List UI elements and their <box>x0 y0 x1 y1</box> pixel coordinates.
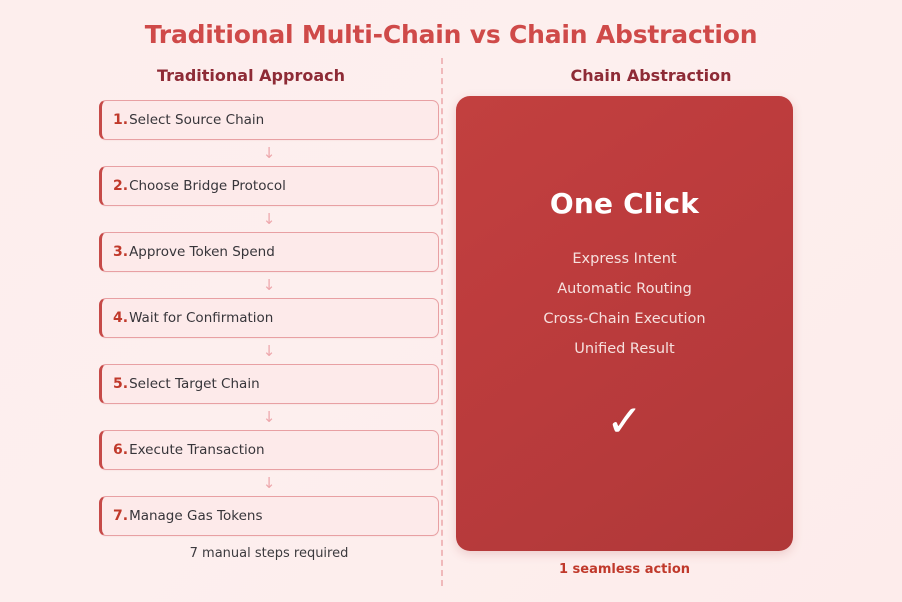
step-label: Select Source Chain <box>129 112 264 128</box>
card-title: One Click <box>550 187 699 220</box>
step-number: 7. <box>113 508 128 524</box>
down-arrow-icon: ↓ <box>99 338 439 364</box>
card-feature-list: Express Intent Automatic Routing Cross-C… <box>543 251 705 357</box>
checkmark-icon: ✓ <box>606 400 643 444</box>
down-arrow-icon: ↓ <box>99 140 439 166</box>
chain-abstraction-card[interactable]: One Click Express Intent Automatic Routi… <box>456 96 793 551</box>
down-arrow-icon: ↓ <box>99 206 439 232</box>
step-number: 5. <box>113 376 128 392</box>
step-label: Manage Gas Tokens <box>129 508 262 524</box>
traditional-caption: 7 manual steps required <box>99 546 439 561</box>
step-number: 6. <box>113 442 128 458</box>
card-feature-item: Unified Result <box>574 341 675 357</box>
step-item[interactable]: 7. Manage Gas Tokens <box>99 496 439 536</box>
down-arrow-icon: ↓ <box>99 272 439 298</box>
step-number: 4. <box>113 310 128 326</box>
traditional-column-header: Traditional Approach <box>62 66 440 85</box>
column-divider <box>441 58 443 586</box>
step-number: 3. <box>113 244 128 260</box>
step-item[interactable]: 2. Choose Bridge Protocol <box>99 166 439 206</box>
step-label: Approve Token Spend <box>129 244 275 260</box>
down-arrow-icon: ↓ <box>99 470 439 496</box>
step-label: Execute Transaction <box>129 442 265 458</box>
step-label: Wait for Confirmation <box>129 310 273 326</box>
card-feature-item: Automatic Routing <box>557 281 692 297</box>
page-title: Traditional Multi-Chain vs Chain Abstrac… <box>0 20 902 49</box>
step-item[interactable]: 6. Execute Transaction <box>99 430 439 470</box>
step-number: 1. <box>113 112 128 128</box>
step-label: Select Target Chain <box>129 376 260 392</box>
down-arrow-icon: ↓ <box>99 404 439 430</box>
step-item[interactable]: 1. Select Source Chain <box>99 100 439 140</box>
comparison-infographic: Traditional Multi-Chain vs Chain Abstrac… <box>0 0 902 602</box>
card-feature-item: Express Intent <box>572 251 676 267</box>
abstraction-caption: 1 seamless action <box>456 562 793 577</box>
step-label: Choose Bridge Protocol <box>129 178 286 194</box>
traditional-column-header-wrap: Traditional Approach <box>62 66 440 101</box>
abstraction-column-header: Chain Abstraction <box>456 66 846 85</box>
step-item[interactable]: 4. Wait for Confirmation <box>99 298 439 338</box>
card-feature-item: Cross-Chain Execution <box>543 311 705 327</box>
step-number: 2. <box>113 178 128 194</box>
step-item[interactable]: 3. Approve Token Spend <box>99 232 439 272</box>
traditional-steps-flow: 1. Select Source Chain ↓ 2. Choose Bridg… <box>99 100 439 561</box>
step-item[interactable]: 5. Select Target Chain <box>99 364 439 404</box>
